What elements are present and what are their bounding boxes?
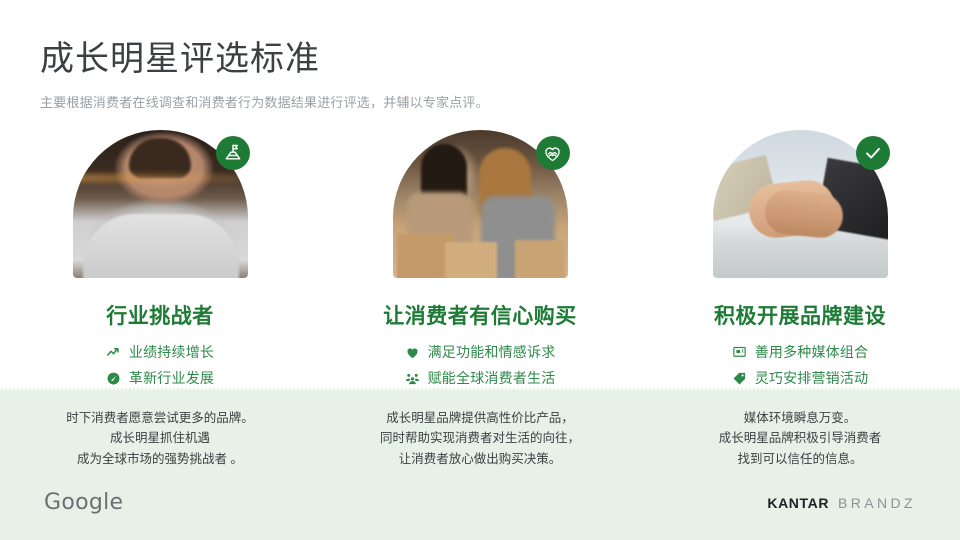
bullet-label: 满足功能和情感诉求 xyxy=(428,342,556,362)
heart-icon xyxy=(405,345,420,360)
description-columns: 时下消费者愿意尝试更多的品牌。成长明星抓住机遇成为全球市场的强势挑战者 。 成长… xyxy=(0,390,960,469)
bullet-item: 赋能全球消费者生活 xyxy=(405,368,556,388)
bullet-item: 善用多种媒体组合 xyxy=(732,342,869,362)
brandz-wordmark: BRANDZ xyxy=(838,495,916,511)
group-people-icon xyxy=(405,371,420,386)
bullet-item: 业绩持续增长 xyxy=(106,342,214,362)
feature-column-3: 积极开展品牌建设 善用多种媒体组合 xyxy=(640,130,960,388)
bullet-label: 赋能全球消费者生活 xyxy=(428,368,556,388)
photo-detail xyxy=(445,242,497,278)
photo-detail xyxy=(73,174,248,182)
feature-columns: 行业挑战者 业绩持续增长 xyxy=(0,130,960,388)
photo-wrap-3 xyxy=(713,130,888,278)
heart-handshake-icon xyxy=(536,136,570,170)
bullet-list-2: 满足功能和情感诉求 赋能全球消费者生活 xyxy=(405,342,556,388)
bullet-label: 灵巧安排营销活动 xyxy=(755,368,869,388)
photo-detail xyxy=(515,240,565,278)
photo-wrap-1 xyxy=(73,130,248,278)
bullet-list-1: 业绩持续增长 革新行业发展 xyxy=(106,342,214,388)
description-text-1: 时下消费者愿意尝试更多的品牌。成长明星抓住机遇成为全球市场的强势挑战者 。 xyxy=(0,408,320,469)
description-band: 时下消费者愿意尝试更多的品牌。成长明星抓住机遇成为全球市场的强势挑战者 。 成长… xyxy=(0,388,960,540)
kantar-wordmark: KANTAR xyxy=(767,495,829,511)
photo-detail xyxy=(83,214,239,278)
column-title-3: 积极开展品牌建设 xyxy=(714,300,886,330)
column-title-2: 让消费者有信心购买 xyxy=(383,300,577,330)
bullet-list-3: 善用多种媒体组合 灵巧安排营销活动 xyxy=(732,342,869,388)
kantar-brandz-logo: KANTAR BRANDZ xyxy=(767,495,916,511)
speedometer-icon xyxy=(106,371,121,386)
bullet-item: 灵巧安排营销活动 xyxy=(732,368,869,388)
trending-up-icon xyxy=(106,345,121,360)
photo-wrap-2 xyxy=(393,130,568,278)
mountain-flag-icon xyxy=(216,136,250,170)
feature-column-2: 让消费者有信心购买 满足功能和情感诉求 xyxy=(320,130,640,388)
column-title-1: 行业挑战者 xyxy=(106,300,214,330)
feature-column-1: 行业挑战者 业绩持续增长 xyxy=(0,130,320,388)
description-text-2: 成长明星品牌提供高性价比产品，同时帮助实现消费者对生活的向往，让消费者放心做出购… xyxy=(320,408,640,469)
tag-icon xyxy=(732,371,747,386)
bullet-item: 满足功能和情感诉求 xyxy=(405,342,556,362)
bullet-label: 革新行业发展 xyxy=(129,368,214,388)
description-text-3: 媒体环境瞬息万变。成长明星品牌积极引导消费者找到可以信任的信息。 xyxy=(640,408,960,469)
page-subtitle: 主要根据消费者在线调查和消费者行为数据结果进行评选，并辅以专家点评。 xyxy=(40,92,920,111)
photo-detail xyxy=(129,138,191,178)
slide-root: 成长明星评选标准 主要根据消费者在线调查和消费者行为数据结果进行评选，并辅以专家… xyxy=(0,0,960,540)
page-title: 成长明星评选标准 xyxy=(40,38,920,81)
google-logo: Google xyxy=(44,490,123,515)
media-screen-icon xyxy=(732,345,747,360)
bullet-item: 革新行业发展 xyxy=(106,368,214,388)
bullet-label: 善用多种媒体组合 xyxy=(755,342,869,362)
check-circle-icon xyxy=(856,136,890,170)
header: 成长明星评选标准 主要根据消费者在线调查和消费者行为数据结果进行评选，并辅以专家… xyxy=(40,38,920,111)
bullet-label: 业绩持续增长 xyxy=(129,342,214,362)
